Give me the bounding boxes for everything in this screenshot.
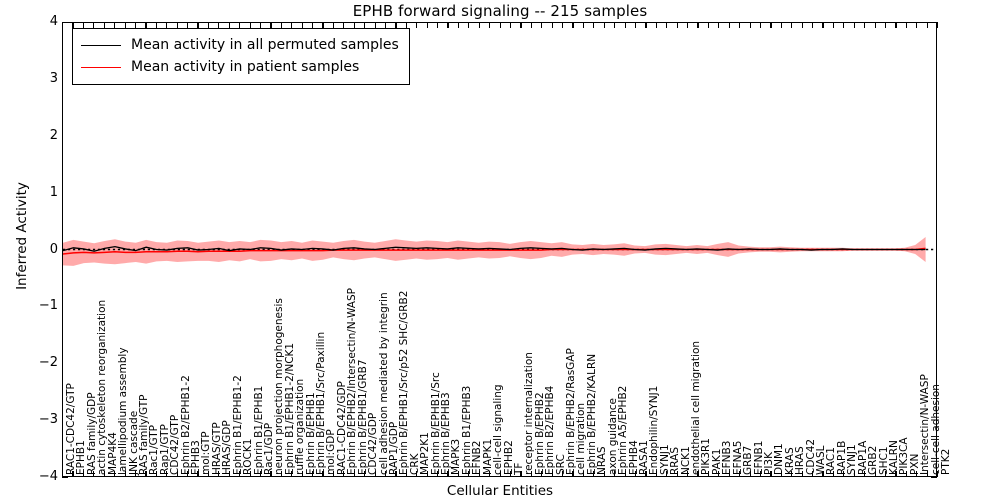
x-tick-mark [458,22,459,28]
x-tick-mark [718,22,719,28]
x-tick-mark [625,22,626,28]
x-tick-mark [541,22,542,28]
x-tick-mark [697,22,698,28]
y-tick-label: −3 [18,412,58,427]
x-tick-mark [687,22,688,28]
x-tick-mark [791,22,792,28]
legend-entry-patient: Mean activity in patient samples [81,56,399,78]
x-tick-mark [781,22,782,28]
x-tick-mark [437,22,438,28]
y-tick-label: 3 [18,71,58,86]
x-tick-mark [531,22,532,28]
x-tick-mark [854,22,855,28]
x-tick-mark [500,22,501,28]
legend-label-permuted: Mean activity in all permuted samples [131,37,399,53]
x-tick-mark [895,22,896,28]
y-tick-label: 4 [18,14,58,29]
x-tick-mark [729,22,730,28]
x-tick-mark [447,22,448,28]
legend-swatch-permuted [81,45,121,46]
x-tick-mark [552,22,553,28]
x-tick-label: lamellipodium assembly [118,347,129,475]
x-tick-mark [645,22,646,28]
x-tick-mark [468,22,469,28]
x-tick-mark [677,22,678,28]
x-tick-mark [708,22,709,28]
x-tick-mark [604,22,605,28]
x-tick-mark [927,22,928,28]
x-tick-mark [510,22,511,28]
y-tick-label: −2 [18,355,58,370]
x-tick-mark [843,22,844,28]
y-tick-mark [62,477,68,478]
y-tick-label: −1 [18,298,58,313]
x-tick-mark [62,471,63,477]
x-tick-mark [656,22,657,28]
x-tick-mark [833,22,834,28]
x-tick-mark [572,22,573,28]
x-tick-label: Ephrin B/EPHB1/Src/p52 SHC/GRB2 [399,291,410,475]
x-tick-mark [739,22,740,28]
y-tick-label: 1 [18,185,58,200]
x-tick-label: GRB2 [868,446,879,475]
chart-figure: EPHB forward signaling -- 215 samples In… [0,0,1000,500]
x-tick-mark [864,22,865,28]
legend-swatch-patient [81,67,121,68]
x-tick-mark [427,22,428,28]
y-tick-mark [931,477,937,478]
x-tick-mark [62,22,63,28]
chart-legend: Mean activity in all permuted samples Me… [72,28,410,85]
x-tick-mark [562,22,563,28]
x-tick-mark [614,22,615,28]
y-tick-label: 2 [18,128,58,143]
x-tick-mark [802,22,803,28]
legend-entry-permuted: Mean activity in all permuted samples [81,34,399,56]
y-tick-label: 0 [18,242,58,257]
x-tick-label: ROCK1 [243,439,254,475]
x-tick-label: GRB7 [743,446,754,475]
x-tick-label: PTK2 [941,449,952,475]
x-tick-mark [916,22,917,28]
x-tick-mark [770,22,771,28]
legend-label-patient: Mean activity in patient samples [131,59,359,75]
x-tick-mark [906,22,907,28]
x-tick-mark [479,22,480,28]
x-tick-mark [635,22,636,28]
x-tick-mark [822,22,823,28]
x-tick-label: cell-cell signaling [493,384,504,475]
x-tick-mark [812,22,813,28]
x-tick-mark [875,22,876,28]
x-tick-mark [416,22,417,28]
x-tick-label: Ephrin A5/EPHB2 [618,386,629,475]
x-tick-mark [666,22,667,28]
y-tick-label: −4 [18,469,58,484]
x-tick-mark [583,22,584,28]
x-tick-mark [489,22,490,28]
x-tick-mark [593,22,594,28]
x-tick-mark [885,22,886,28]
chart-title: EPHB forward signaling -- 215 samples [0,2,1000,20]
x-tick-label: CDC42/GDP [368,413,379,475]
x-tick-mark [750,22,751,28]
x-axis-label: Cellular Entities [0,483,1000,499]
x-tick-mark [760,22,761,28]
x-tick-mark [937,22,938,28]
x-tick-mark [520,22,521,28]
